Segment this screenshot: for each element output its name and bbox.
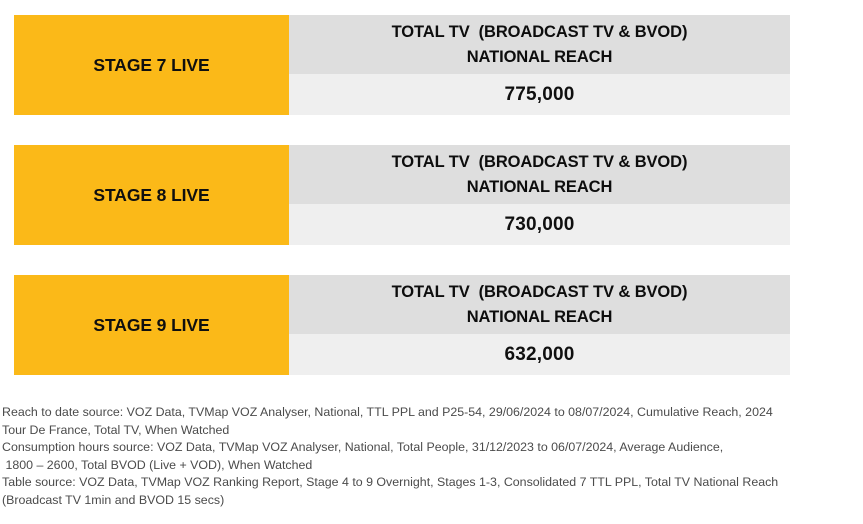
- stage-badge: STAGE 9 LIVE: [14, 275, 289, 375]
- metric-value: 775,000: [504, 84, 574, 106]
- footnote-line: Table source: VOZ Data, TVMap VOZ Rankin…: [2, 474, 860, 492]
- metric-panel: TOTAL TV (BROADCAST TV & BVOD) NATIONAL …: [289, 15, 790, 115]
- stage-badge-label: STAGE 8 LIVE: [93, 185, 209, 206]
- footnote-line: 1800 – 2600, Total BVOD (Live + VOD), Wh…: [2, 457, 860, 475]
- footnote-line: Consumption hours source: VOZ Data, TVMa…: [2, 439, 860, 457]
- metric-header-line-1: TOTAL TV (BROADCAST TV & BVOD): [392, 150, 688, 175]
- metric-header: TOTAL TV (BROADCAST TV & BVOD) NATIONAL …: [289, 145, 790, 204]
- source-footnotes: Reach to date source: VOZ Data, TVMap VO…: [2, 404, 860, 510]
- stage-card: STAGE 9 LIVE TOTAL TV (BROADCAST TV & BV…: [14, 275, 790, 375]
- stage-badge: STAGE 8 LIVE: [14, 145, 289, 245]
- metric-header-line-1: TOTAL TV (BROADCAST TV & BVOD): [392, 280, 688, 305]
- metric-value: 730,000: [504, 214, 574, 236]
- metric-panel: TOTAL TV (BROADCAST TV & BVOD) NATIONAL …: [289, 145, 790, 245]
- stage-badge-label: STAGE 7 LIVE: [93, 55, 209, 76]
- footnote-line: Tour De France, Total TV, When Watched: [2, 422, 860, 440]
- metric-header-line-2: NATIONAL REACH: [467, 175, 613, 200]
- metric-value-box: 730,000: [289, 204, 790, 245]
- metric-panel: TOTAL TV (BROADCAST TV & BVOD) NATIONAL …: [289, 275, 790, 375]
- metric-header: TOTAL TV (BROADCAST TV & BVOD) NATIONAL …: [289, 15, 790, 74]
- metric-value-box: 775,000: [289, 74, 790, 115]
- footnote-line: (Broadcast TV 1min and BVOD 15 secs): [2, 492, 860, 510]
- metric-header: TOTAL TV (BROADCAST TV & BVOD) NATIONAL …: [289, 275, 790, 334]
- metric-value-box: 632,000: [289, 334, 790, 375]
- metric-header-line-1: TOTAL TV (BROADCAST TV & BVOD): [392, 20, 688, 45]
- stage-badge-label: STAGE 9 LIVE: [93, 315, 209, 336]
- stage-badge: STAGE 7 LIVE: [14, 15, 289, 115]
- metric-value: 632,000: [504, 344, 574, 366]
- metric-header-line-2: NATIONAL REACH: [467, 305, 613, 330]
- footnote-line: Reach to date source: VOZ Data, TVMap VO…: [2, 404, 860, 422]
- stage-card: STAGE 7 LIVE TOTAL TV (BROADCAST TV & BV…: [14, 15, 790, 115]
- stage-card: STAGE 8 LIVE TOTAL TV (BROADCAST TV & BV…: [14, 145, 790, 245]
- metric-header-line-2: NATIONAL REACH: [467, 45, 613, 70]
